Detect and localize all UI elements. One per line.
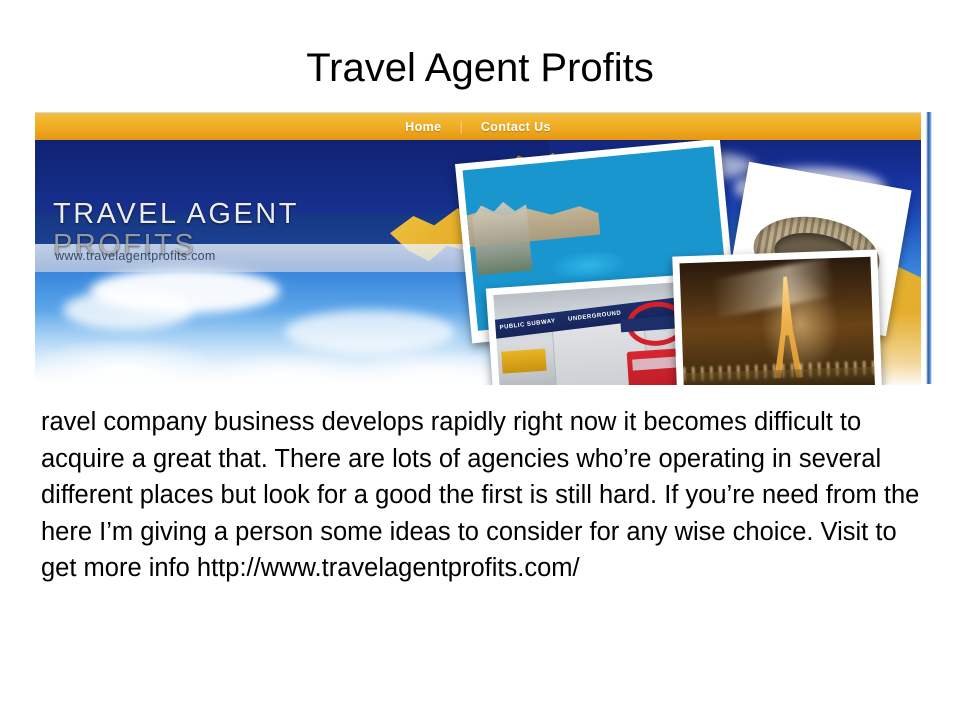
body-paragraph: ravel company business develops rapidly … xyxy=(41,404,921,587)
nav-item-home[interactable]: Home xyxy=(387,120,459,134)
site-navigation-bar: Home | Contact Us xyxy=(35,113,921,140)
page-title: Travel Agent Profits xyxy=(0,44,960,92)
website-banner-image: Home | Contact Us TRAVEL AGENT PROFITS w… xyxy=(35,112,932,384)
london-shopfront xyxy=(501,349,547,374)
banner-canvas: Home | Contact Us TRAVEL AGENT PROFITS w… xyxy=(35,112,921,385)
sign-text-public-subway: PUBLIC SUBWAY xyxy=(499,319,556,332)
eiffel-tower-image xyxy=(680,257,876,385)
logo-website-url: www.travelagentprofits.com xyxy=(55,249,216,263)
searchlight-beam xyxy=(712,258,836,319)
logo-line-1: TRAVEL AGENT xyxy=(53,199,299,230)
nav-separator: | xyxy=(459,119,462,134)
banner-right-border xyxy=(926,112,932,384)
photo-eiffel-tower xyxy=(672,249,882,385)
nav-item-contact-us[interactable]: Contact Us xyxy=(463,120,569,134)
london-underground-image: PUBLIC SUBWAY UNDERGROUND xyxy=(493,281,701,385)
sign-text-underground: UNDERGROUND xyxy=(568,310,622,322)
